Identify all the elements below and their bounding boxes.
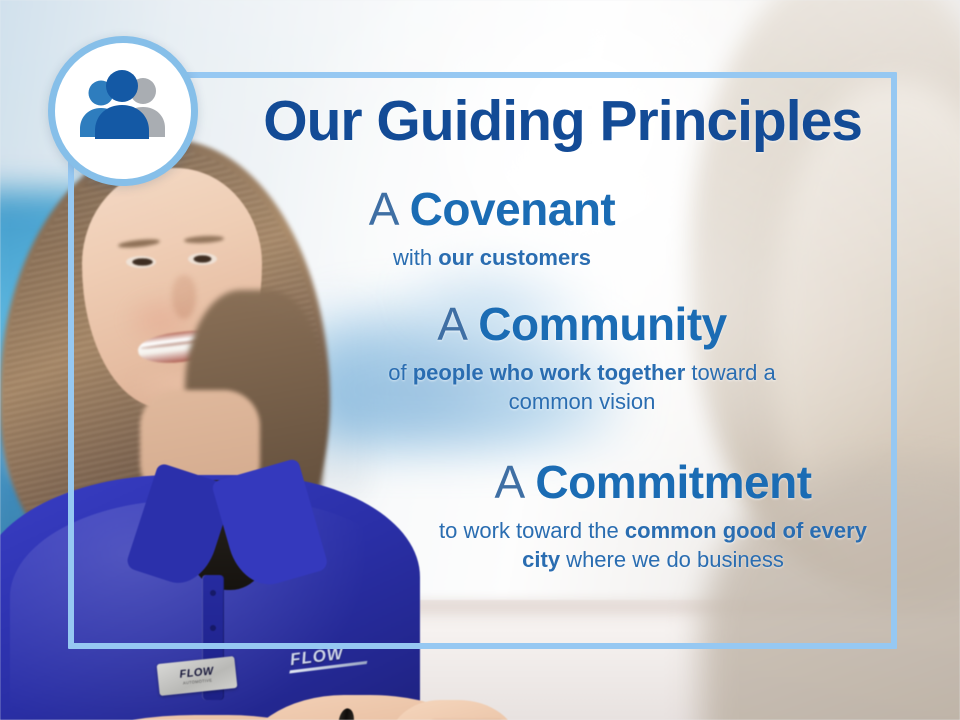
- principle-subtext: with our customers: [282, 243, 702, 272]
- principle-heading: A Covenant: [282, 185, 702, 235]
- principle-article: A: [494, 456, 522, 508]
- page-title: Our Guiding Principles: [0, 92, 862, 152]
- polo-button-top: [210, 590, 216, 596]
- principle-word: Commitment: [535, 456, 811, 508]
- principle-community: A Community of people who work together …: [352, 300, 812, 416]
- employee-eye-left: [126, 256, 156, 268]
- employee-nose: [172, 275, 196, 319]
- principle-heading: A Commitment: [418, 458, 888, 508]
- principle-covenant: A Covenant with our customers: [282, 185, 702, 272]
- principle-subtext: of people who work together toward a com…: [352, 358, 812, 416]
- principle-subtext: to work toward the common good of every …: [418, 516, 888, 574]
- name-badge-subtext: AUTOMOTIVE: [183, 678, 213, 685]
- principle-word: Covenant: [410, 183, 616, 235]
- principle-heading: A Community: [352, 300, 812, 350]
- polo-button-bottom: [210, 625, 216, 631]
- poster-canvas: FLOW AUTOMOTIVE FLOW: [0, 0, 960, 720]
- principle-commitment: A Commitment to work toward the common g…: [418, 458, 888, 574]
- principle-article: A: [369, 183, 397, 235]
- principle-word: Community: [478, 298, 727, 350]
- principle-article: A: [437, 298, 465, 350]
- employee-eye-right: [188, 253, 217, 265]
